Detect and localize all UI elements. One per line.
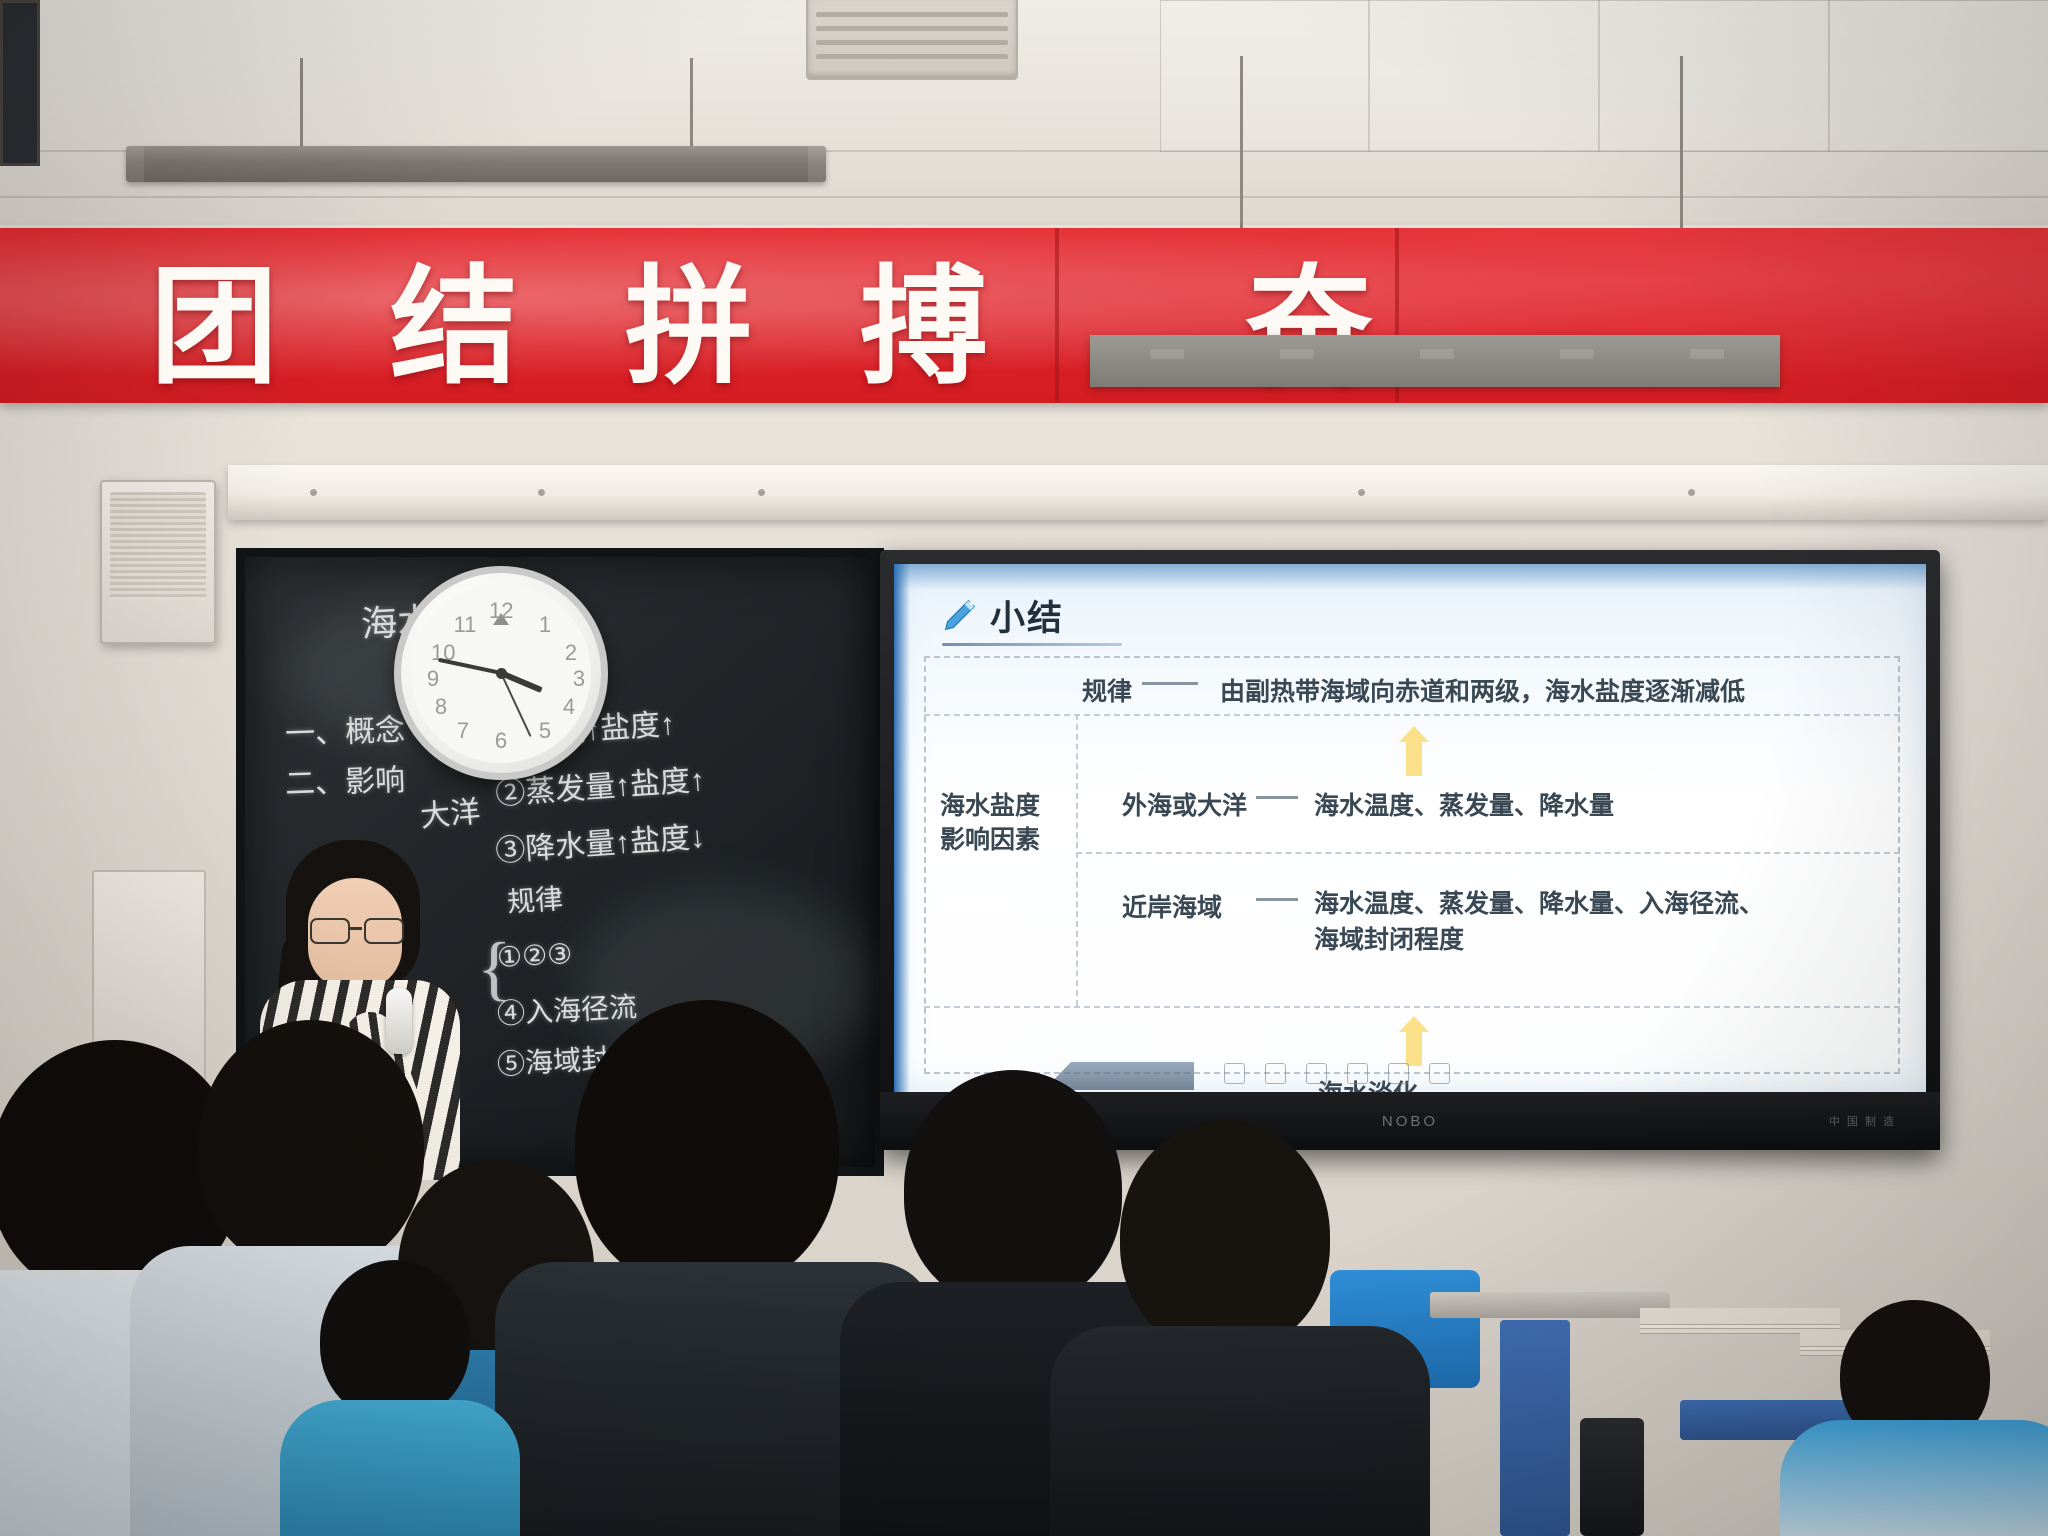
region-label-1: 外海或大洋 — [1122, 786, 1247, 822]
student-silhouette — [1080, 1120, 1380, 1536]
ceiling-light-bar — [126, 146, 826, 182]
factor-label-line2: 影响因素 — [940, 820, 1040, 856]
eraser-icon[interactable] — [1347, 1063, 1368, 1084]
clock-number: 3 — [567, 667, 591, 691]
banner-char-1: 团 — [150, 223, 280, 408]
clock-number: 7 — [451, 719, 475, 743]
text-icon[interactable] — [1429, 1063, 1450, 1084]
clock-number: 12 — [489, 599, 513, 623]
smart-board[interactable]: 小结 规律 由副热带海域向赤道和两级，海水盐度逐渐减低 海水盐度 影响因素 — [880, 550, 1940, 1150]
student-silhouette — [545, 1000, 885, 1536]
highlighter-icon[interactable] — [1306, 1063, 1327, 1084]
ceiling-seam — [0, 196, 2048, 198]
slide-content-box — [924, 656, 1900, 1074]
slide-divider — [1076, 852, 1900, 854]
factors-1: 海水温度、蒸发量、降水量 — [1314, 786, 1614, 822]
slide-divider — [924, 714, 1900, 716]
banner-char-2: 结 — [390, 223, 520, 408]
student-silhouette — [300, 1260, 500, 1536]
wall-frame — [0, 0, 40, 166]
banner-char-4: 搏 — [860, 223, 990, 408]
title-underline — [942, 643, 1122, 646]
desk-top — [1430, 1292, 1670, 1318]
ceiling-panel — [1828, 0, 2048, 152]
factor-label-line1: 海水盐度 — [940, 786, 1040, 822]
clock-number: 11 — [453, 613, 477, 637]
clock-number: 2 — [559, 641, 583, 665]
cursor-icon[interactable] — [1224, 1063, 1245, 1084]
slide-divider — [1076, 714, 1078, 1006]
ceiling-panel — [1598, 0, 1830, 152]
row-dash-1 — [1256, 796, 1298, 799]
smart-board-brand: NOBO — [1382, 1113, 1438, 1130]
hanging-grey-bar — [1090, 335, 1780, 387]
light-rod — [690, 58, 693, 150]
student-silhouette — [1790, 1300, 2048, 1536]
rule-label: 规律 — [1082, 672, 1132, 708]
clock-center — [496, 668, 507, 679]
factors-2-line2: 海域封闭程度 — [1314, 920, 1464, 956]
clock-number: 6 — [489, 729, 513, 753]
banner-char-3: 拼 — [625, 223, 755, 408]
blackboard-line: 一、概念 — [284, 705, 405, 753]
region-label-2: 近岸海域 — [1122, 888, 1222, 924]
pen-icon — [940, 597, 978, 635]
clock-number: 5 — [533, 719, 557, 743]
slide-title-row: 小结 — [928, 590, 1892, 641]
wall-ledge — [228, 465, 2048, 520]
clock-number: 1 — [533, 613, 557, 637]
blackboard-line: 规律 — [506, 877, 565, 921]
factors-2-line1: 海水温度、蒸发量、降水量、入海径流、 — [1314, 884, 1764, 920]
pen-icon[interactable] — [1265, 1063, 1286, 1084]
slide-title: 小结 — [990, 590, 1064, 641]
clock-minute-hand — [438, 658, 501, 675]
blackboard-line: 大洋 — [418, 786, 482, 835]
rule-content: 由副热带海域向赤道和两级，海水盐度逐渐减低 — [1220, 672, 1745, 708]
wall-speaker — [100, 480, 216, 644]
clock-number: 9 — [421, 667, 445, 691]
wall-clock: 12 1 2 3 4 5 6 7 8 9 10 11 — [394, 566, 608, 780]
shape-icon[interactable] — [1388, 1063, 1409, 1084]
ceiling-panel — [1160, 0, 1370, 152]
desk-leg — [1500, 1320, 1570, 1536]
rule-dash — [1142, 682, 1198, 685]
smart-board-chin-text: 中 国 制 造 — [1829, 1113, 1896, 1129]
blackboard-line: 二、影响 — [284, 755, 405, 803]
clock-number: 8 — [429, 695, 453, 719]
presentation-slide: 小结 规律 由副热带海域向赤道和两级，海水盐度逐渐减低 海水盐度 影响因素 — [894, 564, 1926, 1092]
clock-number: 4 — [557, 695, 581, 719]
thermos-bottle — [1580, 1418, 1644, 1536]
ceiling-panel — [1368, 0, 1600, 152]
light-rod — [300, 58, 303, 150]
air-vent — [806, 0, 1018, 80]
classroom-photo: 团 结 拼 搏 奋 海水的盐度 一、概念 二、影响 ①温度↑盐度↑ ②蒸发量↑盐… — [0, 0, 2048, 1536]
row-dash-2 — [1256, 898, 1298, 901]
glasses — [310, 918, 402, 940]
smart-board-screen[interactable]: 小结 规律 由副热带海域向赤道和两级，海水盐度逐渐减低 海水盐度 影响因素 — [894, 564, 1926, 1092]
slide-divider — [924, 1006, 1900, 1008]
blackboard-line: ③降水量↑盐度↓ — [494, 812, 707, 871]
